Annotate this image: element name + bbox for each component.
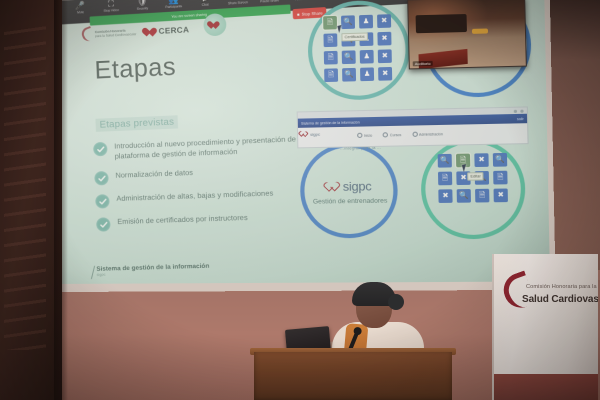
heart-swoosh-icon	[80, 26, 95, 43]
heart-pulse-icon	[328, 180, 342, 193]
video-thumbnail[interactable]: Auditorio	[407, 0, 527, 69]
tooltip-certificados: Certificados	[341, 32, 368, 41]
app-header-actions: salir	[517, 116, 524, 120]
list-item: Normalización de datos	[94, 163, 315, 185]
document-icon[interactable]: 🗎	[475, 189, 489, 203]
close-icon[interactable]: ✖	[494, 188, 508, 202]
chsc-logo: Comisión Honoraria para la Salud Cardiov…	[82, 25, 137, 42]
zoom-control-label: Stop Video	[104, 8, 120, 14]
stage-curtain	[0, 0, 62, 400]
zoom-control-label: Security	[137, 6, 149, 11]
sigpc-logo-block: sigpc Gestión de entrenadores	[312, 155, 387, 228]
person-icon[interactable]: ♟	[360, 67, 374, 81]
tooltip-editar: Editar	[467, 172, 484, 181]
close-icon[interactable]: ✖	[378, 67, 392, 81]
zoom-control-stop-video[interactable]: ⛶ Stop Video	[98, 0, 124, 14]
person-icon[interactable]: ♟	[360, 50, 374, 64]
document-icon[interactable]: 🗎	[323, 16, 337, 30]
zoom-control-label: Share Screen	[228, 0, 248, 6]
conference-room-photo: 🎤 Mute ⛶ Stop Video 🛡 Security 👥 Partici…	[0, 0, 600, 400]
window-dot-icon	[520, 109, 523, 112]
bullet-list: Introducción al nuevo procedimiento y pr…	[93, 133, 318, 240]
curtain-texture	[4, 20, 46, 350]
zoom-control-remote[interactable]: 🖱 Remote Control	[321, 0, 348, 1]
slide-title: Etapas	[94, 53, 176, 86]
cerca-logo: CERCA	[146, 24, 189, 37]
close-icon[interactable]: ✖	[377, 32, 391, 46]
app-screenshot: Sistema de gestión de la información sal…	[297, 106, 529, 148]
sigpc-wordmark: sigpc	[343, 179, 372, 194]
check-circle-icon	[96, 217, 111, 232]
zoom-control-label: Chat	[202, 3, 209, 8]
rollup-banner: Comisión Honoraria para la Salud Cardiov…	[492, 254, 598, 400]
search-icon[interactable]: 🔍	[457, 189, 471, 203]
banner-base	[494, 374, 598, 400]
heart-icon	[210, 20, 219, 29]
bullet-text: Introducción al nuevo procedimiento y pr…	[114, 133, 314, 161]
close-icon[interactable]: ✖	[474, 153, 488, 167]
heart-icon	[301, 131, 308, 138]
search-icon[interactable]: 🔍	[493, 153, 507, 167]
zoom-control-annotate[interactable]: ✎ Annotate	[288, 0, 315, 3]
zoom-control-pause-share[interactable]: ❙❙ Pause Share	[256, 0, 283, 5]
app-brand-logo: sigpc	[301, 130, 320, 137]
zoom-control-security[interactable]: 🛡 Security	[129, 0, 155, 12]
stop-share-label: Stop Share	[301, 10, 322, 16]
check-circle-icon	[95, 194, 110, 209]
app-nav-item[interactable]: Cursos	[383, 132, 402, 138]
person-icon[interactable]: ♟	[359, 15, 373, 29]
slash-divider	[91, 266, 95, 279]
app-header-title: Sistema de gestión de la información	[301, 120, 360, 125]
slide-subtitle: Etapas previstas	[95, 115, 178, 132]
heart-icon	[146, 25, 158, 37]
app-nav-item[interactable]: Inicio	[357, 133, 372, 138]
document-icon[interactable]: 🗎	[324, 51, 338, 65]
zoom-control-chat[interactable]: 💬 Chat	[192, 0, 218, 9]
app-nav-item[interactable]: Administración	[412, 131, 443, 137]
document-icon[interactable]: 🗎	[493, 171, 507, 185]
search-icon[interactable]: 🔍	[342, 68, 356, 82]
presenter-hair-bun	[388, 294, 404, 310]
wooden-lectern	[254, 352, 452, 400]
stop-icon: ■	[297, 11, 300, 16]
zoom-control-participants[interactable]: 👥 Participants	[161, 0, 187, 10]
video-object	[472, 28, 488, 33]
video-participant-name: Auditorio	[413, 61, 433, 66]
microphone-icon: 🎤	[75, 1, 85, 11]
heart-swoosh-icon	[499, 270, 536, 312]
document-icon[interactable]: 🗎	[438, 172, 452, 186]
app-nav-links: Inicio Cursos Administración	[357, 131, 443, 138]
zoom-control-label: Annotate	[295, 0, 308, 2]
search-icon[interactable]: 🔍	[342, 50, 356, 64]
close-icon[interactable]: ✖	[378, 49, 392, 63]
zoom-control-mute[interactable]: 🎤 Mute	[67, 0, 93, 16]
cerca-wordmark: CERCA	[158, 25, 189, 36]
video-feed	[408, 0, 526, 68]
list-item: Administración de altas, bajas y modific…	[95, 187, 316, 209]
bullet-text: Emisión de certificados por instructores	[117, 213, 248, 227]
icon-grid-top: 🗎 🔍 ♟ ✖ 🗎 🔍 ♟ ✖ 🗎 🔍 ♟ ✖ 🗎 🔍 ♟ ✖	[323, 14, 392, 82]
zoom-control-label: Participants	[166, 4, 183, 10]
zoom-control-label: Mute	[77, 10, 84, 15]
close-icon[interactable]: ✖	[438, 189, 452, 203]
chsc-logo-line2: para la Salud Cardiovascular	[95, 32, 136, 38]
banner-line1: Comisión Honoraria para la	[526, 284, 597, 290]
video-desk	[416, 14, 467, 33]
check-circle-icon	[94, 171, 109, 186]
bullet-text: Normalización de datos	[115, 168, 193, 181]
bullet-text: Administración de altas, bajas y modific…	[116, 188, 273, 204]
search-icon[interactable]: 🔍	[438, 154, 452, 168]
document-icon[interactable]: 🗎	[324, 68, 338, 82]
document-icon[interactable]: 🗎	[323, 33, 337, 47]
window-dot-icon	[514, 109, 517, 112]
list-item: Introducción al nuevo procedimiento y pr…	[93, 133, 315, 162]
check-circle-icon	[93, 142, 108, 157]
list-item: Emisión de certificados por instructores	[96, 210, 318, 231]
zoom-control-label: Pause Share	[260, 0, 279, 4]
slide-footer: Sistema de gestión de la información sig…	[92, 263, 210, 279]
app-brand-text: sigpc	[310, 131, 320, 136]
zoom-control-share-screen[interactable]: ⬆ Share Screen	[224, 0, 250, 7]
banner-line2: Salud Cardiovascular	[522, 294, 598, 305]
sigpc-caption: Gestión de entrenadores	[313, 197, 388, 205]
camera-icon: ⛶	[108, 0, 114, 9]
close-icon[interactable]: ✖	[377, 14, 391, 28]
